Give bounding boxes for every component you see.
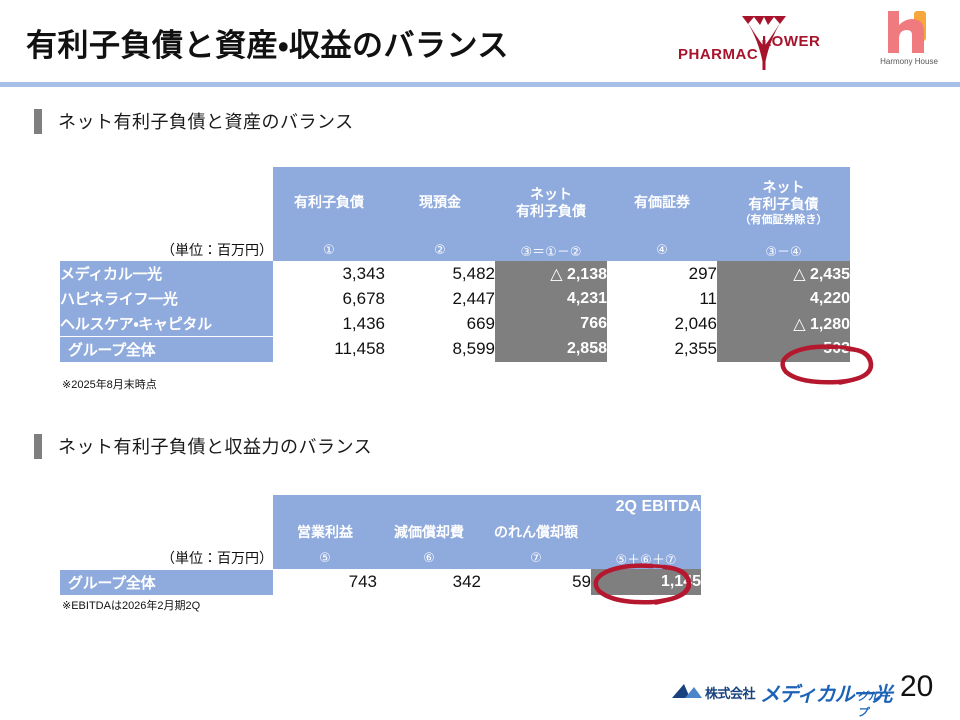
harmony-house-label: Harmony House <box>874 57 944 66</box>
table-header-row: 有利子負債 現預金 ネット有利子負債 有価証券 ネット有利子負債（有価証券除き） <box>60 167 850 239</box>
col2-header-2: のれん償却額 <box>481 519 591 547</box>
pharmacy-flower-logo: PHARMAC LOWER <box>676 10 844 72</box>
col-number-3: ④ <box>607 239 717 261</box>
cell-1-3: 11 <box>607 286 717 311</box>
company-prefix: 株式会社 <box>705 683 755 702</box>
col2-header-0: 営業利益 <box>273 519 377 547</box>
header-corner-cell <box>60 167 273 239</box>
cell-0-1: 5,482 <box>385 261 495 286</box>
col2-number-0: ⑤ <box>273 547 377 569</box>
unit-label: （単位：百万円） <box>60 547 273 569</box>
footnote-assets: ※2025年8月末時点 <box>62 376 157 392</box>
header-divider <box>0 82 960 87</box>
cell-0-3: 297 <box>607 261 717 286</box>
section-heading-assets: ネット有利子負債と資産のバランス <box>34 108 354 134</box>
harmony-house-mark-icon <box>882 9 934 55</box>
row2-label-0: グループ全体 <box>60 569 273 595</box>
cell-0-0: 3,343 <box>273 261 385 286</box>
col2-header-1: 減価償却費 <box>377 519 481 547</box>
harmony-house-logo: Harmony House <box>874 9 944 73</box>
tulip-icon <box>738 12 790 70</box>
table-body: メディカル一光 3,343 5,482 △ 2,138 297 △ 2,435 … <box>60 261 850 362</box>
col-number-0: ① <box>273 239 385 261</box>
row-label-3: グループ全体 <box>60 337 273 363</box>
section-bar-icon <box>34 434 42 459</box>
col2-number-1: ⑥ <box>377 547 481 569</box>
cell-1-1: 2,447 <box>385 286 495 311</box>
table-number-row: （単位：百万円） ① ② ③＝①－② ④ ③－④ <box>60 239 850 261</box>
cell-0-4: △ 2,435 <box>717 261 850 286</box>
cell2-0-0: 743 <box>273 569 377 595</box>
net-debt-assets-table: 有利子負債 現預金 ネット有利子負債 有価証券 ネット有利子負債（有価証券除き）… <box>60 167 850 362</box>
col-header-sub-4: （有価証券除き） <box>717 214 850 228</box>
footer-company-logo: 株式会社 メディカル一光 グループ <box>672 676 892 706</box>
table-row-total: グループ全体 11,458 8,599 2,858 2,355 503 <box>60 337 850 363</box>
section-bar-icon <box>34 109 42 134</box>
table-row: メディカル一光 3,343 5,482 △ 2,138 297 △ 2,435 <box>60 261 850 286</box>
col-number-4: ③－④ <box>717 239 850 261</box>
cell-2-0: 1,436 <box>273 311 385 337</box>
row-label-1: ハピネライフ一光 <box>60 286 273 311</box>
section-heading-label: ネット有利子負債と資産のバランス <box>58 108 354 134</box>
table-band-row: 2Q EBITDA <box>60 495 701 519</box>
cell-2-3: 2,046 <box>607 311 717 337</box>
col2-number-3: ⑤＋⑥＋⑦ <box>591 547 701 569</box>
cell-1-4: 4,220 <box>717 286 850 311</box>
col-header-4: ネット有利子負債（有価証券除き） <box>717 167 850 239</box>
col2-number-2: ⑦ <box>481 547 591 569</box>
table-number-row: （単位：百万円） ⑤ ⑥ ⑦ ⑤＋⑥＋⑦ <box>60 547 701 569</box>
table-body: グループ全体 743 342 59 1,145 <box>60 569 701 595</box>
cell-3-2: 2,858 <box>495 337 607 363</box>
ebitda-band-label: 2Q EBITDA <box>273 495 701 519</box>
unit-label: （単位：百万円） <box>60 239 273 261</box>
company-suffix: グループ <box>857 688 892 720</box>
table-row: ハピネライフ一光 6,678 2,447 4,231 11 4,220 <box>60 286 850 311</box>
col-header-3: 有価証券 <box>607 167 717 239</box>
section-heading-earnings: ネット有利子負債と収益力のバランス <box>34 433 372 459</box>
cell2-0-3: 1,145 <box>591 569 701 595</box>
page-number: 20 <box>900 670 933 704</box>
header-corner-cell <box>60 519 273 547</box>
table-row-total: グループ全体 743 342 59 1,145 <box>60 569 701 595</box>
page-title: 有利子負債と資産・収益のバランス <box>26 20 509 65</box>
cell-2-4: △ 1,280 <box>717 311 850 337</box>
band-corner-cell <box>60 495 273 519</box>
section-heading-label: ネット有利子負債と収益力のバランス <box>58 433 372 459</box>
col-number-1: ② <box>385 239 495 261</box>
net-debt-earnings-table: 2Q EBITDA 営業利益 減価償却費 のれん償却額 （単位：百万円） ⑤ ⑥… <box>60 495 701 595</box>
cell2-0-2: 59 <box>481 569 591 595</box>
col-header-1: 現預金 <box>385 167 495 239</box>
table-header-row: 営業利益 減価償却費 のれん償却額 <box>60 519 701 547</box>
cell-2-1: 669 <box>385 311 495 337</box>
row-label-2: ヘルスケア・キャピタル <box>60 311 273 337</box>
cell-3-4: 503 <box>717 337 850 363</box>
cell-1-2: 4,231 <box>495 286 607 311</box>
table-row: ヘルスケア・キャピタル 1,436 669 766 2,046 △ 1,280 <box>60 311 850 337</box>
cell-1-0: 6,678 <box>273 286 385 311</box>
cell-0-2: △ 2,138 <box>495 261 607 286</box>
cell-3-3: 2,355 <box>607 337 717 363</box>
col-header-0: 有利子負債 <box>273 167 385 239</box>
cell-3-0: 11,458 <box>273 337 385 363</box>
row-label-0: メディカル一光 <box>60 261 273 286</box>
col-header-2: ネット有利子負債 <box>495 167 607 239</box>
company-mark-icon <box>672 682 702 699</box>
footnote-earnings: ※EBITDAは2026年2月期2Q <box>62 597 200 613</box>
cell-2-2: 766 <box>495 311 607 337</box>
cell-3-1: 8,599 <box>385 337 495 363</box>
col2-header-3 <box>591 519 701 547</box>
col-number-2: ③＝①－② <box>495 239 607 261</box>
cell2-0-1: 342 <box>377 569 481 595</box>
